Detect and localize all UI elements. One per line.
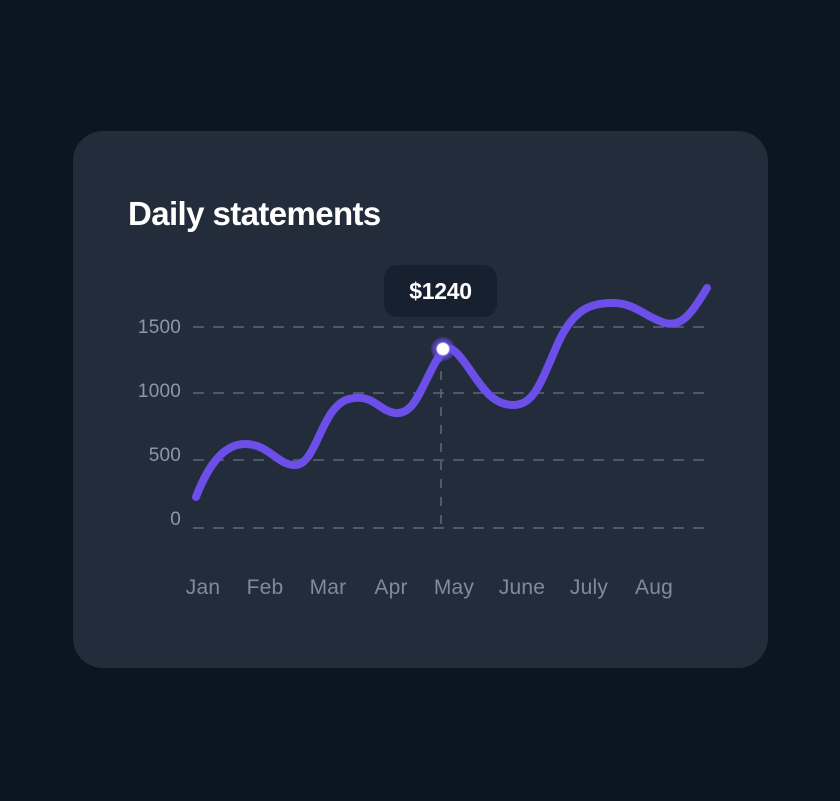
value-tooltip: $1240 bbox=[384, 265, 497, 317]
x-axis-label-aug: Aug bbox=[622, 576, 686, 600]
tooltip-value-text: $1240 bbox=[409, 278, 471, 305]
x-axis-label-may: May bbox=[422, 576, 486, 600]
x-axis-label-feb: Feb bbox=[233, 576, 297, 600]
x-axis-label-jan: Jan bbox=[171, 576, 235, 600]
daily-statements-card: Daily statements 1500 1000 500 0 bbox=[73, 131, 768, 668]
x-axis-label-apr: Apr bbox=[359, 576, 423, 600]
y-axis-label-0: 0 bbox=[103, 509, 181, 531]
x-axis-label-mar: Mar bbox=[296, 576, 360, 600]
y-axis-label-1500: 1500 bbox=[103, 317, 181, 339]
data-point-marker-may[interactable] bbox=[431, 337, 455, 361]
data-line-daily-statements bbox=[196, 288, 707, 497]
x-axis-label-june: June bbox=[486, 576, 558, 600]
app-root: Daily statements 1500 1000 500 0 bbox=[0, 0, 840, 801]
x-axis-label-july: July bbox=[555, 576, 623, 600]
line-chart[interactable]: 1500 1000 500 0 Jan Feb Mar Apr May June… bbox=[73, 131, 768, 668]
y-axis-label-500: 500 bbox=[103, 445, 181, 467]
y-axis-label-1000: 1000 bbox=[103, 381, 181, 403]
